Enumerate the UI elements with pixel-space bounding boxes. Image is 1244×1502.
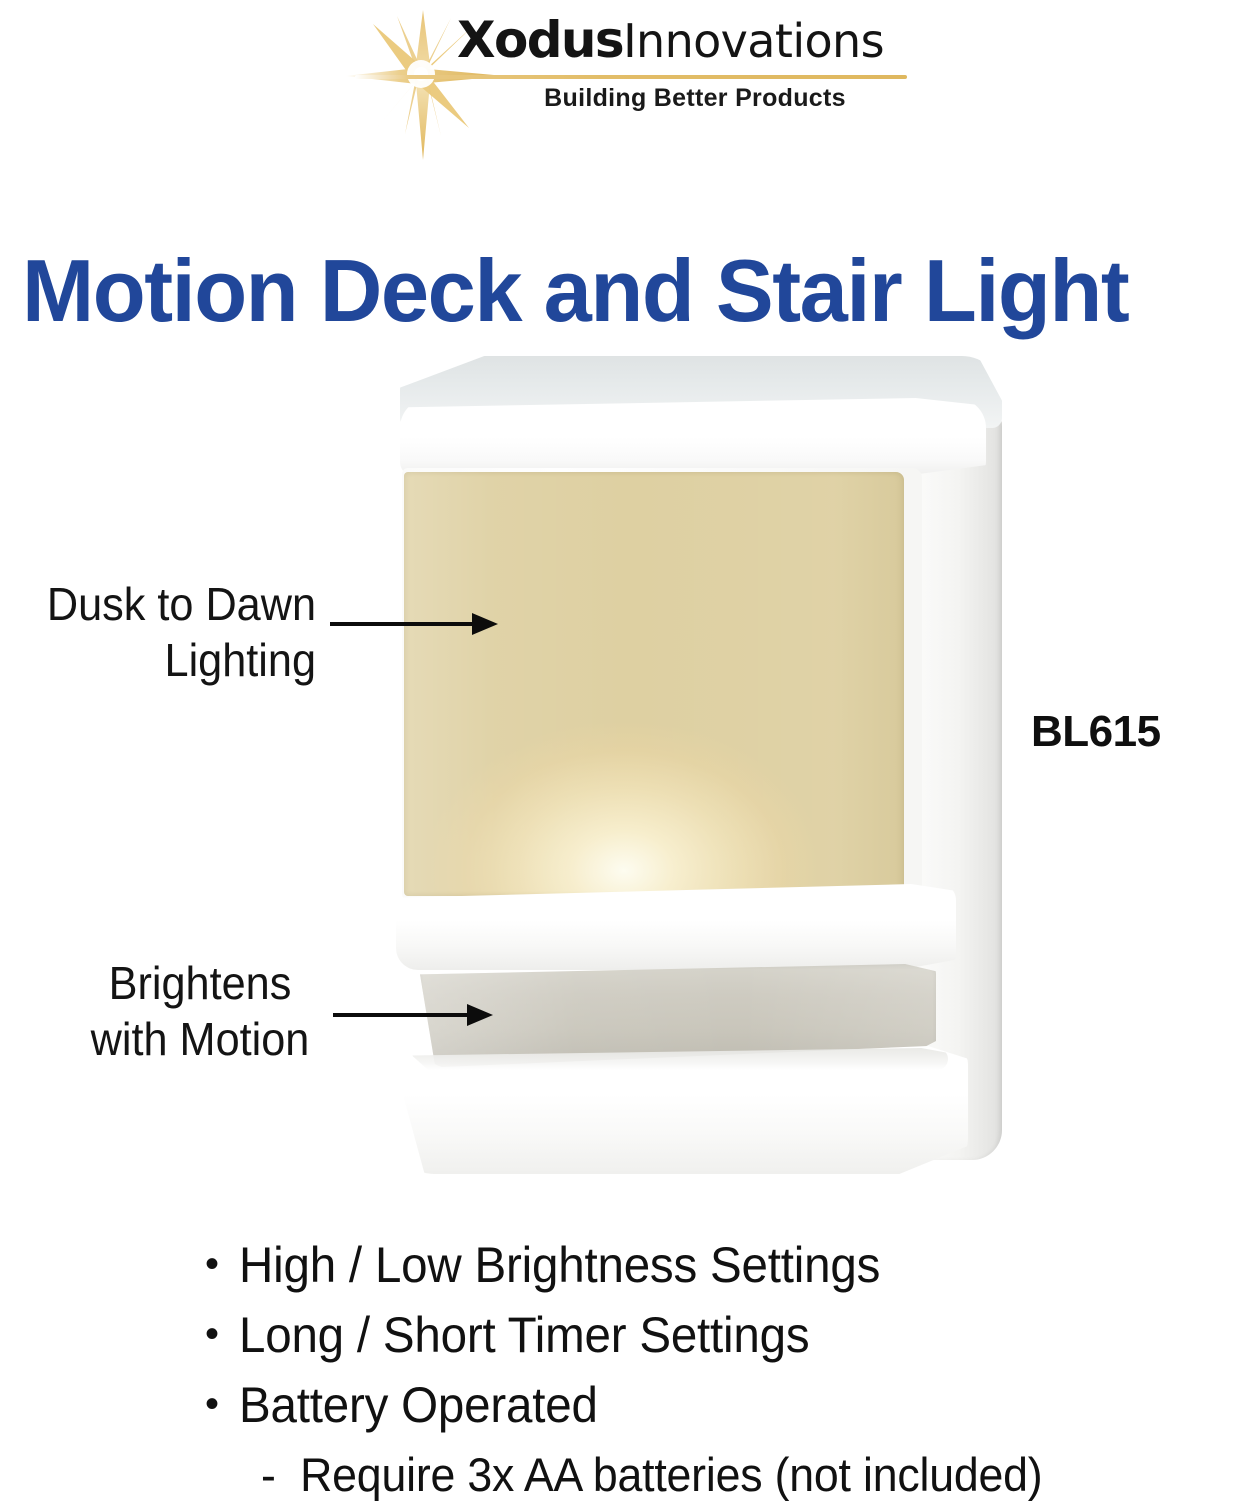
arrow-shaft xyxy=(330,622,474,626)
feature-text: High / Low Brightness Settings xyxy=(239,1238,880,1292)
arrow-head xyxy=(467,1004,493,1026)
feature-list: • High / Low Brightness Settings • Long … xyxy=(205,1238,1215,1502)
callout-label-brightens-with-motion: Brightens with Motion xyxy=(83,955,316,1067)
list-item: • Long / Short Timer Settings xyxy=(205,1308,1215,1362)
page-title: Motion Deck and Stair Light xyxy=(22,245,1220,337)
bullet-glyph: • xyxy=(205,1308,239,1360)
feature-text: Battery Operated xyxy=(239,1378,598,1432)
callout-label-dusk-to-dawn: Dusk to Dawn Lighting xyxy=(15,576,316,688)
bullet-glyph: • xyxy=(205,1378,239,1430)
product-image xyxy=(396,356,1016,1186)
list-item: • Battery Operated - Require 3x AA batte… xyxy=(205,1378,1215,1502)
feature-text: Long / Short Timer Settings xyxy=(239,1308,809,1362)
feature-subtext-label: Require 3x AA batteries (not included) xyxy=(300,1448,1042,1501)
dash-glyph: - xyxy=(261,1448,276,1501)
brand-name-light: Innovations xyxy=(623,14,884,68)
product-cap-front xyxy=(400,398,986,476)
brand-name-bold: Xodus xyxy=(457,11,623,69)
arrow-shaft xyxy=(333,1013,469,1017)
product-top-cap xyxy=(400,356,1002,476)
arrow-right-icon-brightens-with-motion xyxy=(333,1004,493,1026)
list-item: • High / Low Brightness Settings xyxy=(205,1238,1215,1292)
bullet-glyph: • xyxy=(205,1238,239,1290)
product-model-number: BL615 xyxy=(1031,707,1161,757)
brand-logo: XodusInnovations Building Better Product… xyxy=(345,4,905,132)
arrow-head xyxy=(472,613,498,635)
feature-subtext: - Require 3x AA batteries (not included) xyxy=(261,1448,1167,1502)
product-mid-band xyxy=(396,884,956,970)
arrow-right-icon-dusk-to-dawn xyxy=(330,613,498,635)
brand-wordmark: XodusInnovations xyxy=(457,12,907,68)
brand-underline-rule xyxy=(355,75,907,79)
product-lens-sheen xyxy=(404,472,904,896)
brand-tagline: Building Better Products xyxy=(485,84,905,113)
